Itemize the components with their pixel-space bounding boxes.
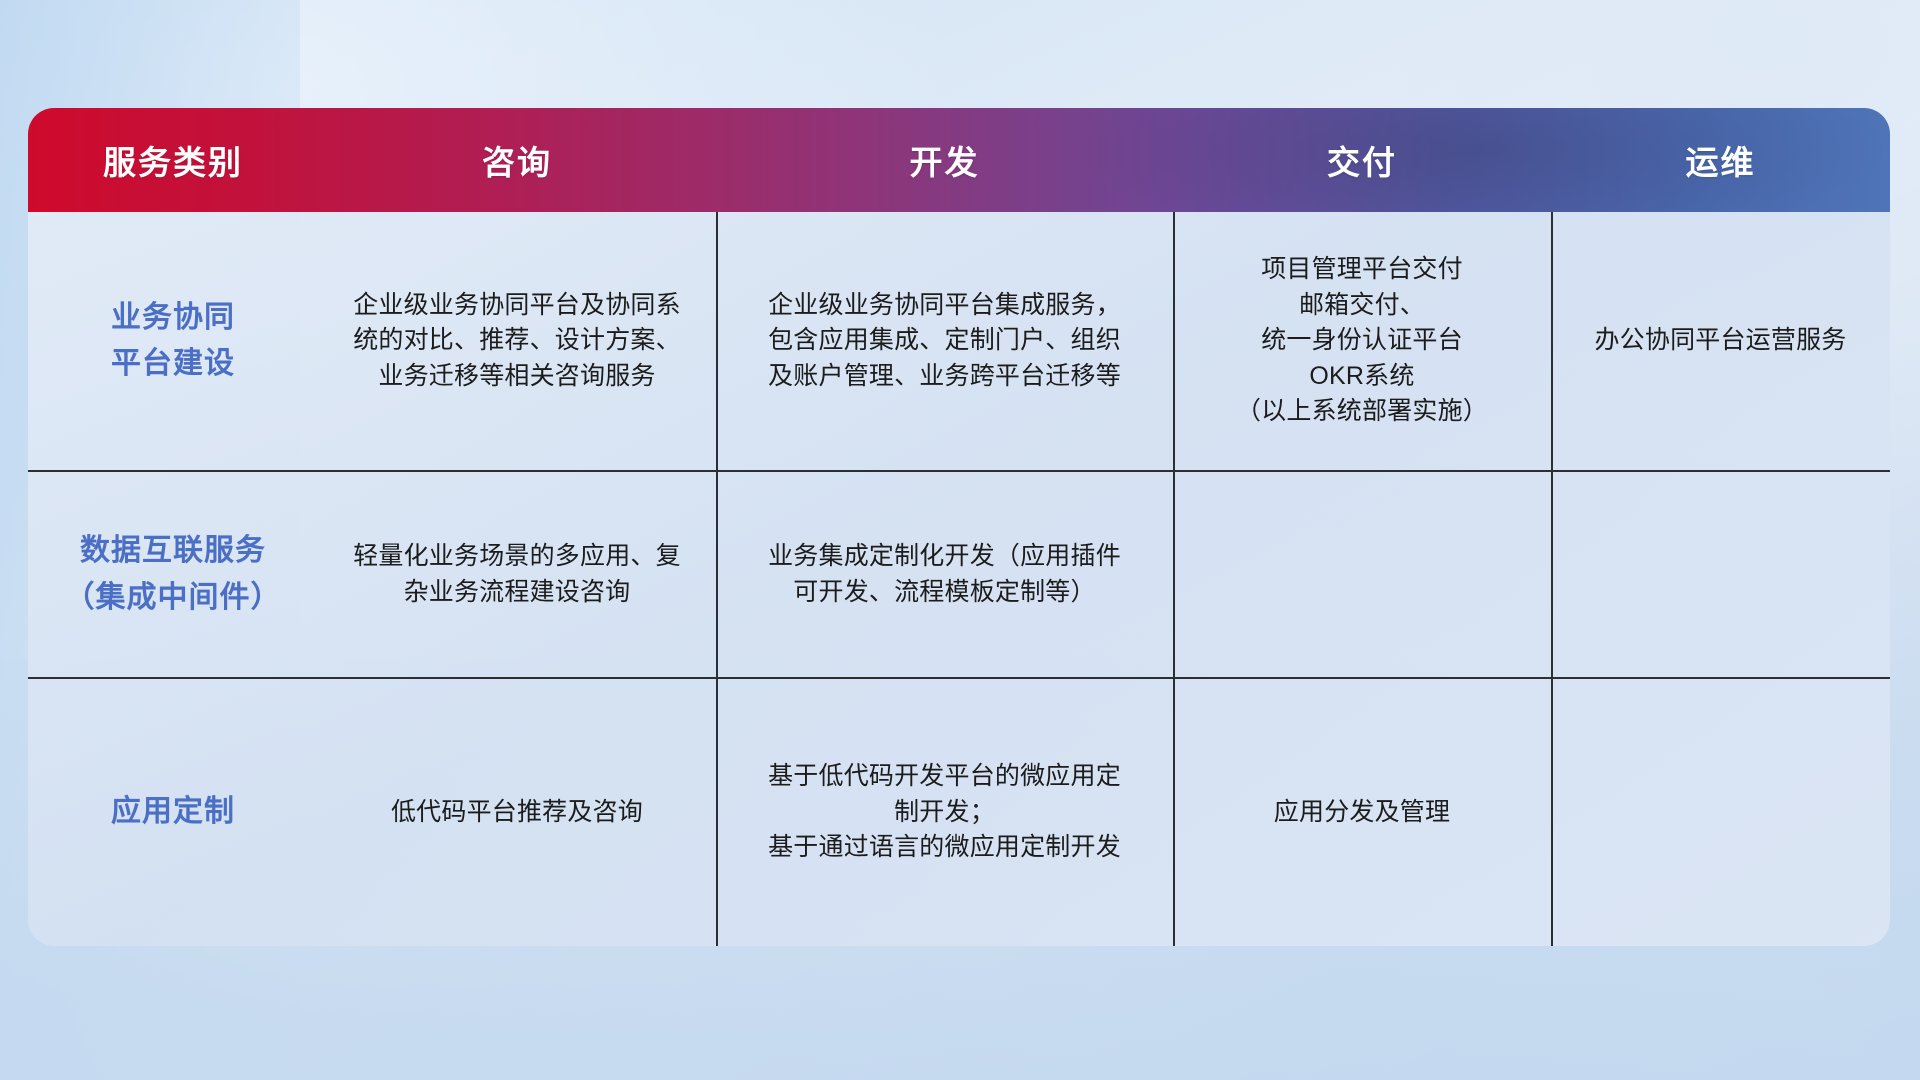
- column-divider: [1173, 212, 1175, 946]
- column-header-category: 服务类别: [28, 136, 318, 184]
- cell-operations: 办公协同平台运营服务: [1551, 212, 1890, 470]
- cell-consulting: 企业级业务协同平台及协同系 统的对比、推荐、设计方案、 业务迁移等相关咨询服务: [318, 212, 716, 470]
- cell-text: 轻量化业务场景的多应用、复 杂业务流程建设咨询: [353, 539, 681, 610]
- cell-text: 企业级业务协同平台集成服务， 包含应用集成、定制门户、组织 及账户管理、业务跨平…: [768, 288, 1121, 395]
- column-header-development: 开发: [716, 136, 1173, 184]
- cell-category: 应用定制: [28, 679, 318, 946]
- table-row: 应用定制 低代码平台推荐及咨询 基于低代码开发平台的微应用定 制开发； 基于通过…: [28, 679, 1890, 946]
- cell-text: 基于低代码开发平台的微应用定 制开发； 基于通过语言的微应用定制开发: [768, 759, 1121, 866]
- cell-text: 数据互联服务 （集成中间件）: [65, 528, 282, 621]
- column-divider: [1551, 212, 1553, 946]
- cell-text: 应用分发及管理: [1274, 795, 1450, 831]
- table-row: 业务协同 平台建设 企业级业务协同平台及协同系 统的对比、推荐、设计方案、 业务…: [28, 212, 1890, 470]
- cell-consulting: 低代码平台推荐及咨询: [318, 679, 716, 946]
- cell-delivery: 项目管理平台交付 邮箱交付、 统一身份认证平台 OKR系统 （以上系统部署实施）: [1173, 212, 1551, 470]
- cell-text: 业务集成定制化开发（应用插件 可开发、流程模板定制等）: [768, 539, 1121, 610]
- cell-delivery: 应用分发及管理: [1173, 679, 1551, 946]
- cell-consulting: 轻量化业务场景的多应用、复 杂业务流程建设咨询: [318, 472, 716, 677]
- cell-text: 项目管理平台交付 邮箱交付、 统一身份认证平台 OKR系统 （以上系统部署实施）: [1236, 252, 1488, 430]
- cell-category: 业务协同 平台建设: [28, 212, 318, 470]
- row-divider: [28, 470, 1890, 472]
- cell-development: 基于低代码开发平台的微应用定 制开发； 基于通过语言的微应用定制开发: [716, 679, 1173, 946]
- cell-development: 企业级业务协同平台集成服务， 包含应用集成、定制门户、组织 及账户管理、业务跨平…: [716, 212, 1173, 470]
- cell-text: 应用定制: [111, 789, 235, 836]
- cell-text: 低代码平台推荐及咨询: [391, 795, 643, 831]
- column-header-operations: 运维: [1551, 136, 1890, 184]
- cell-category: 数据互联服务 （集成中间件）: [28, 472, 318, 677]
- column-header-delivery: 交付: [1173, 136, 1551, 184]
- table-header-row: 服务类别 咨询 开发 交付 运维: [28, 108, 1890, 212]
- table-row: 数据互联服务 （集成中间件） 轻量化业务场景的多应用、复 杂业务流程建设咨询 业…: [28, 472, 1890, 677]
- cell-operations: [1551, 472, 1890, 677]
- cell-text: 办公协同平台运营服务: [1594, 323, 1846, 359]
- cell-operations: [1551, 679, 1890, 946]
- cell-development: 业务集成定制化开发（应用插件 可开发、流程模板定制等）: [716, 472, 1173, 677]
- service-matrix-table: 服务类别 咨询 开发 交付 运维 业务协同 平台建设 企业级业务协同平台及协同系…: [28, 108, 1890, 946]
- cell-text: 企业级业务协同平台及协同系 统的对比、推荐、设计方案、 业务迁移等相关咨询服务: [353, 288, 681, 395]
- cell-text: 业务协同 平台建设: [111, 295, 235, 388]
- cell-delivery: [1173, 472, 1551, 677]
- row-divider: [28, 677, 1890, 679]
- column-header-consulting: 咨询: [318, 136, 716, 184]
- column-divider: [716, 212, 718, 946]
